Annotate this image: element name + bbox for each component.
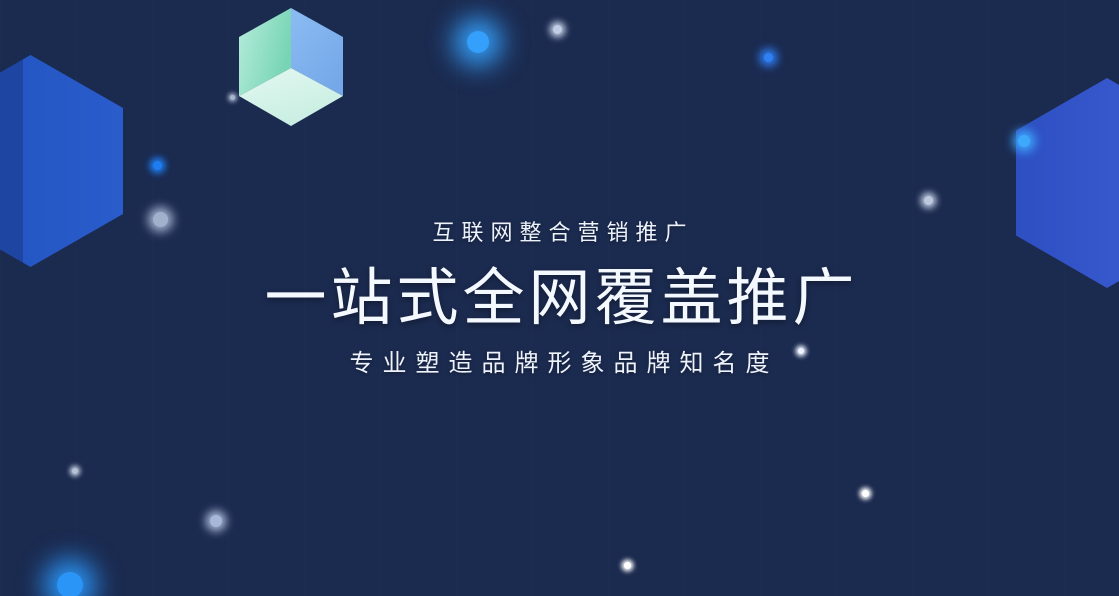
- dot-small-left-upper: [153, 161, 162, 170]
- dot-small-top-right: [764, 53, 773, 62]
- hero-tagline: 互联网整合营销推广: [0, 216, 1119, 250]
- dot-small-mid-right: [924, 196, 933, 205]
- dot-tiny-bottom-center: [624, 562, 631, 569]
- dot-tiny-bottom-right: [862, 490, 869, 497]
- dot-glow-bottom-left: [57, 572, 83, 596]
- dot-glow-top-center: [467, 31, 489, 53]
- dot-small-top-center: [553, 25, 562, 34]
- isometric-cube-icon: [239, 8, 343, 126]
- dot-tiny-top-left-edge: [230, 95, 235, 100]
- dot-small-upper-right: [1018, 135, 1030, 147]
- hero-copy: 互联网整合营销推广 一站式全网覆盖推广 专业塑造品牌形象品牌知名度: [0, 216, 1119, 382]
- hero-subline: 专业塑造品牌形象品牌知名度: [0, 346, 1119, 382]
- hero-headline: 一站式全网覆盖推广: [0, 262, 1119, 336]
- dot-tiny-left-lower: [72, 468, 78, 474]
- hero-banner: 互联网整合营销推广 一站式全网覆盖推广 专业塑造品牌形象品牌知名度: [0, 0, 1119, 596]
- dot-soft-lower-center: [210, 515, 222, 527]
